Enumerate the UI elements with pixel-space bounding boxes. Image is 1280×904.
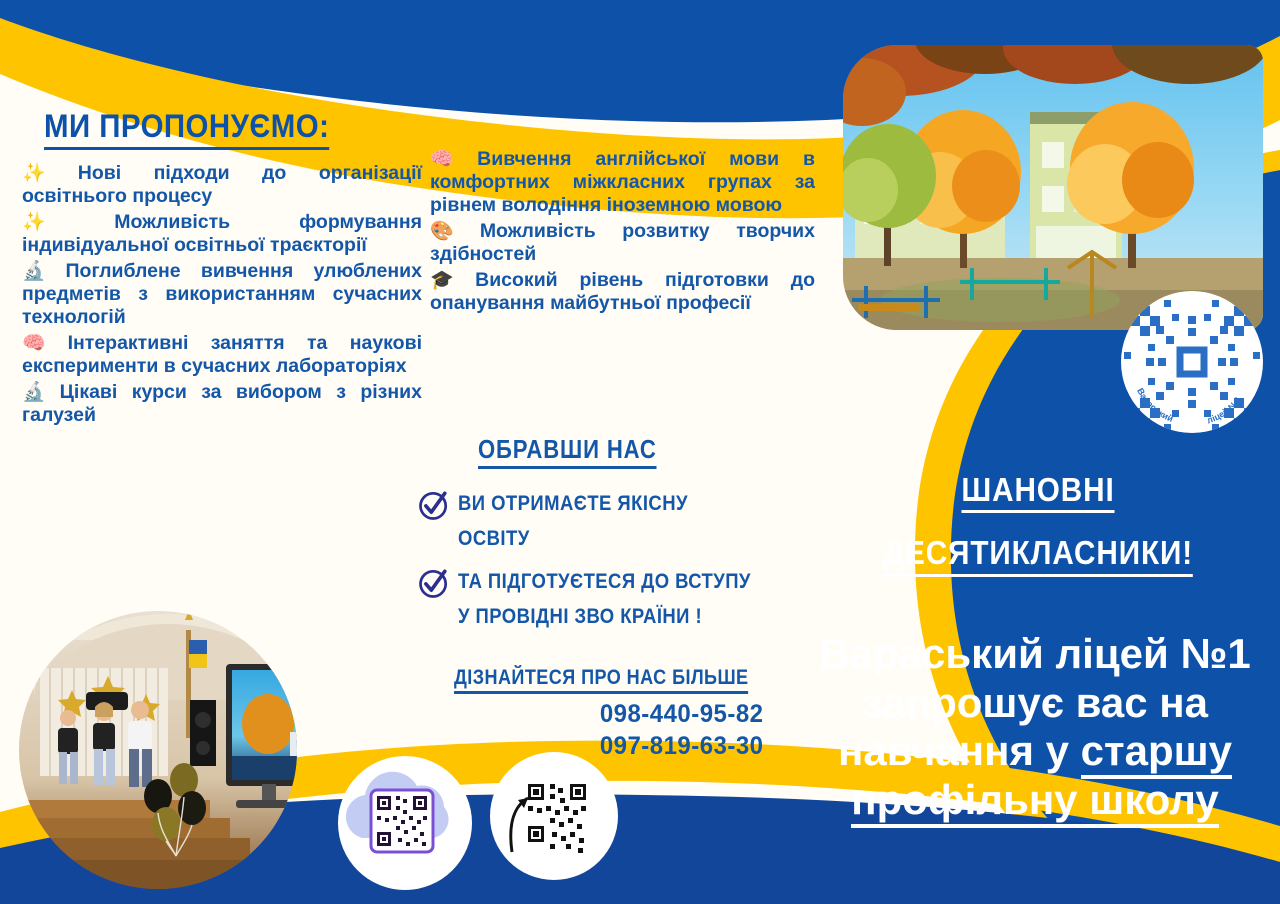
brain-icon: 🧠 — [22, 333, 63, 354]
hero-body-line-2: запрошує вас на — [790, 679, 1280, 728]
check-circle-icon — [416, 487, 452, 523]
list-item-text: Високий рівень підготовки до опанування … — [430, 269, 815, 314]
benefit-text: ВИ ОТРИМАЄТЕ ЯКІСНУ ОСВІТУ — [458, 487, 688, 556]
hero-body-line-3: навчання у старшу — [790, 727, 1280, 776]
benefit-line-1: ТА ПІДГОТУЄТЕСЯ ДО ВСТУПУ — [458, 565, 751, 600]
list-item: 🔬Поглиблене вивчення улюблених предметів… — [22, 260, 422, 329]
list-item: 🎨Можливість розвитку творчих здібностей — [430, 220, 815, 266]
list-item-text: Поглиблене вивчення улюблених предметів … — [22, 260, 422, 328]
list-item-text: Вивчення англійської мови в комфортних м… — [430, 148, 815, 216]
hero-greeting-line-2: ДЕСЯТИКЛАСНИКИ! — [883, 535, 1193, 576]
hero-body-line-3-underlined: старшу — [1081, 727, 1232, 779]
phone-number-1[interactable]: 098-440-95-82 — [600, 700, 764, 729]
offer-title: МИ ПРОПОНУЄМО: — [44, 108, 329, 150]
sparkles-icon: ✨ — [22, 163, 73, 184]
hero-body-line-3-plain: навчання у — [838, 727, 1081, 774]
hero-body-line-4-underlined: профільну школу — [851, 776, 1219, 828]
chosen-us-title: ОБРАВШИ НАС — [478, 434, 657, 469]
hero-body-line-1: Вараський ліцей №1 — [790, 630, 1280, 679]
hero-body: Вараський ліцей №1 запрошує вас на навча… — [790, 630, 1280, 825]
list-item: 🧠Вивчення англійської мови в комфортних … — [430, 148, 815, 217]
graduation-cap-icon: 🎓 — [430, 270, 470, 291]
learn-more-label: ДІЗНАЙТЕСЯ ПРО НАС БІЛЬШЕ — [454, 666, 749, 694]
brain-icon: 🧠 — [430, 149, 472, 170]
hero-greeting: ШАНОВНІ ДЕСЯТИКЛАСНИКИ! — [835, 472, 1242, 577]
benefit-line-2: ОСВІТУ — [458, 522, 688, 557]
benefit-line-2: У ПРОВІДНІ ЗВО КРАЇНИ ! — [458, 600, 751, 635]
list-item-text: Можливість розвитку творчих здібностей — [430, 220, 815, 265]
benefit-row: ВИ ОТРИМАЄТЕ ЯКІСНУ ОСВІТУ — [416, 487, 719, 556]
list-item-text: Нові підходи до організації освітнього п… — [22, 162, 422, 207]
microscope-icon: 🔬 — [22, 382, 55, 403]
list-item: 🧠Інтерактивні заняття та наукові експери… — [22, 332, 422, 378]
offer-left-column: ✨Нові підходи до організації освітнього … — [22, 162, 422, 430]
list-item: 🔬Цікаві курси за вибором з різних галузе… — [22, 381, 422, 427]
sparkles-icon: ✨ — [22, 212, 109, 233]
palette-icon: 🎨 — [430, 221, 475, 242]
list-item: ✨Можливість формування індивідуальної ос… — [22, 211, 422, 257]
phone-number-2[interactable]: 097-819-63-30 — [600, 732, 764, 761]
hero-body-line-4: профільну школу — [790, 776, 1280, 825]
hero-greeting-line-1: ШАНОВНІ — [961, 472, 1114, 513]
benefit-row: ТА ПІДГОТУЄТЕСЯ ДО ВСТУПУ У ПРОВІДНІ ЗВО… — [416, 565, 791, 634]
microscope-icon: 🔬 — [22, 261, 61, 282]
offer-right-column: 🧠Вивчення англійської мови в комфортних … — [430, 148, 815, 318]
check-circle-icon — [416, 565, 452, 601]
list-item: 🎓Високий рівень підготовки до опанування… — [430, 269, 815, 315]
list-item-text: Цікаві курси за вибором з різних галузей — [22, 381, 422, 426]
benefit-line-1: ВИ ОТРИМАЄТЕ ЯКІСНУ — [458, 487, 688, 522]
benefit-text: ТА ПІДГОТУЄТЕСЯ ДО ВСТУПУ У ПРОВІДНІ ЗВО… — [458, 565, 751, 634]
list-item: ✨Нові підходи до організації освітнього … — [22, 162, 422, 208]
list-item-text: Інтерактивні заняття та наукові експерим… — [22, 332, 422, 377]
poster-canvas: Вараський ліцей №1 — [0, 0, 1280, 904]
